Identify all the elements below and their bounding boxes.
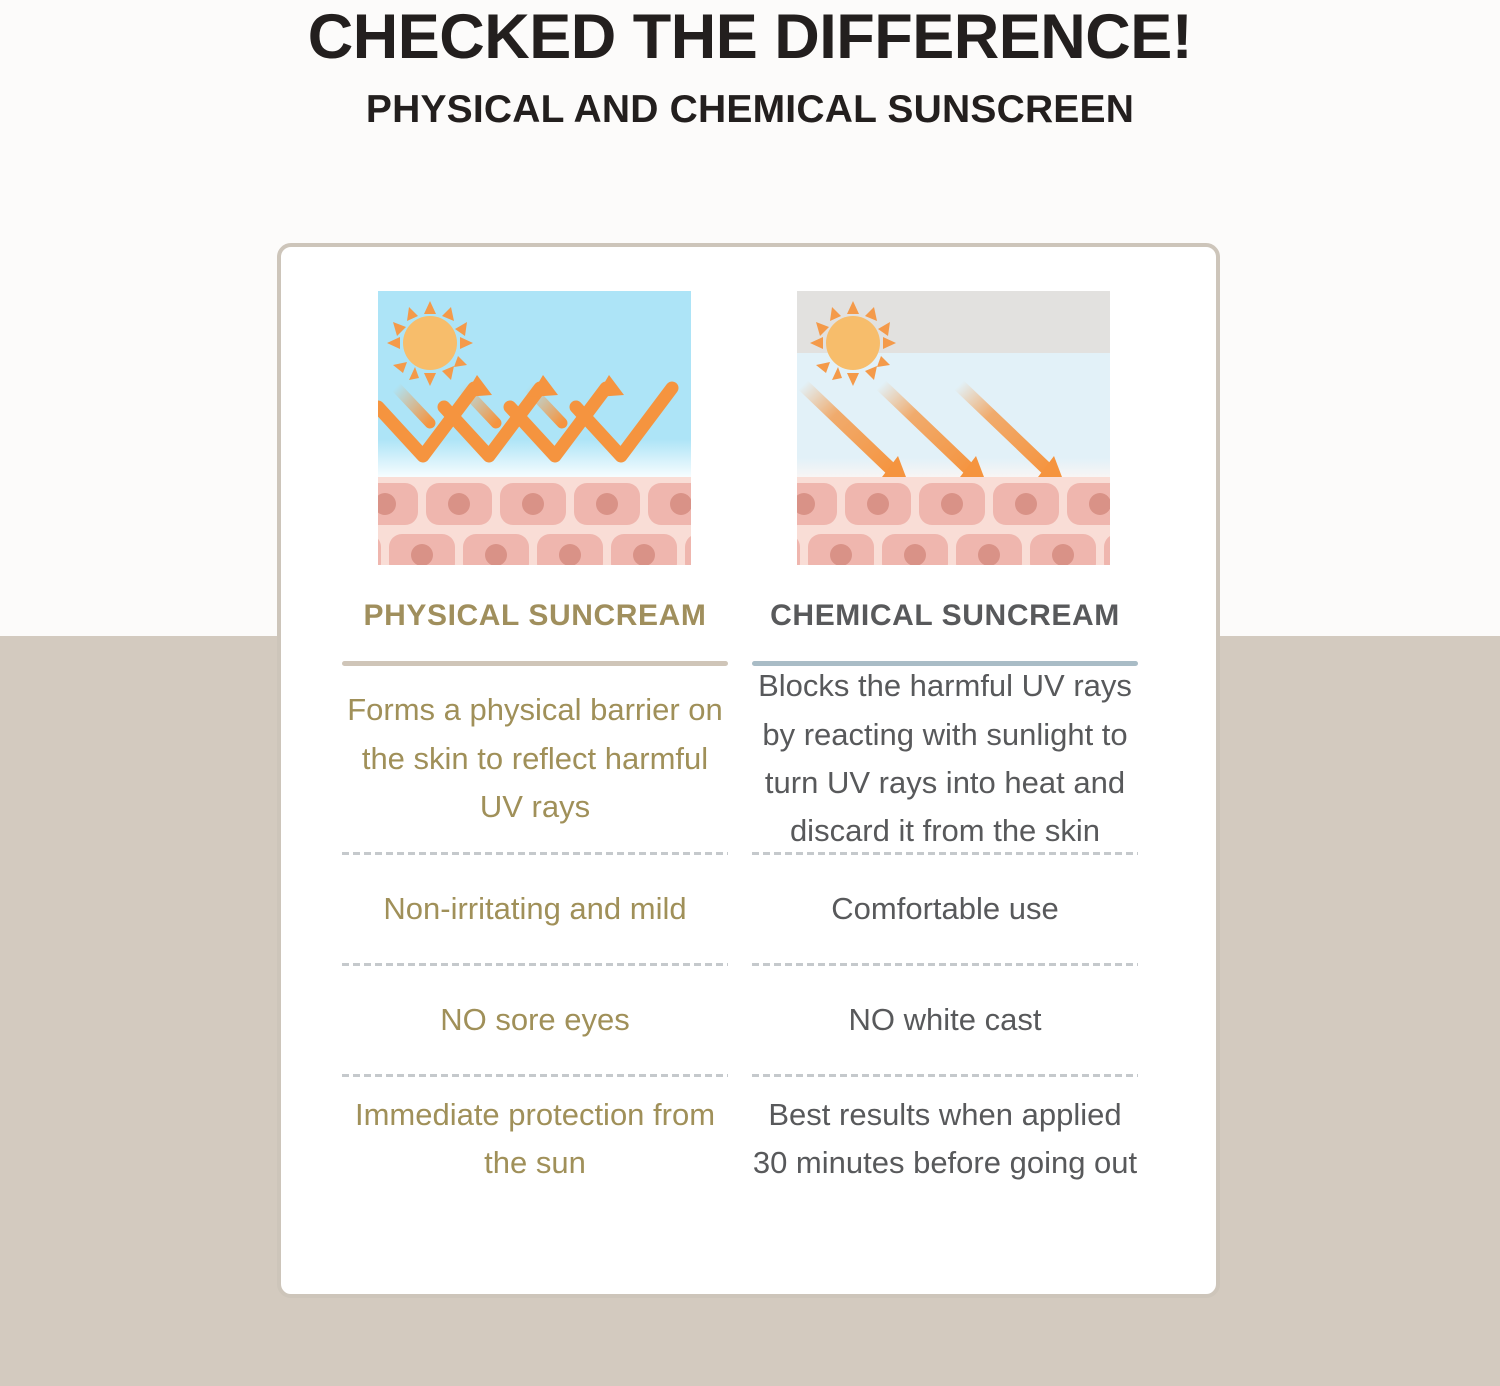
- feature-text: Comfortable use: [831, 885, 1058, 933]
- physical-sunscreen-diagram-icon: [378, 291, 691, 565]
- feature-text: Non-irritating and mild: [383, 885, 686, 933]
- feature-text: Forms a physical barrier on the skin to …: [337, 686, 733, 831]
- feature-text: Immediate protection from the sun: [337, 1091, 733, 1188]
- feature-row: Immediate protection from the sun: [337, 1077, 733, 1201]
- feature-row: Best results when applied 30 minutes bef…: [747, 1077, 1143, 1201]
- feature-row: Non-irritating and mild: [337, 855, 733, 963]
- chemical-sunscreen-illustration: [797, 291, 1110, 565]
- page-subtitle: PHYSICAL AND CHEMICAL SUNSCREEN: [0, 73, 1500, 132]
- comparison-card: PHYSICAL SUNCREAM Forms a physical barri…: [277, 243, 1220, 1298]
- illustration-row: [281, 247, 1216, 567]
- column-chemical: CHEMICAL SUNCREAM Blocks the harmful UV …: [747, 599, 1143, 1201]
- chemical-sunscreen-diagram-icon: [797, 291, 1110, 565]
- page-title: CHECKED THE DIFFERENCE!: [0, 0, 1500, 73]
- feature-row: Comfortable use: [747, 855, 1143, 963]
- feature-row: NO white cast: [747, 966, 1143, 1074]
- feature-text: Blocks the harmful UV rays by reacting w…: [747, 662, 1143, 855]
- column-physical: PHYSICAL SUNCREAM Forms a physical barri…: [337, 599, 733, 1201]
- column-title-physical: PHYSICAL SUNCREAM: [337, 599, 733, 632]
- feature-text: NO sore eyes: [440, 996, 630, 1044]
- feature-list-physical: Forms a physical barrier on the skin to …: [337, 666, 733, 1201]
- feature-text: NO white cast: [849, 996, 1042, 1044]
- physical-sunscreen-illustration: [378, 291, 691, 565]
- heading-block: CHECKED THE DIFFERENCE! PHYSICAL AND CHE…: [0, 0, 1500, 131]
- feature-row: NO sore eyes: [337, 966, 733, 1074]
- feature-row: Blocks the harmful UV rays by reacting w…: [747, 666, 1143, 852]
- feature-text: Best results when applied 30 minutes bef…: [747, 1091, 1143, 1188]
- column-title-chemical: CHEMICAL SUNCREAM: [747, 599, 1143, 632]
- feature-row: Forms a physical barrier on the skin to …: [337, 666, 733, 852]
- feature-list-chemical: Blocks the harmful UV rays by reacting w…: [747, 666, 1143, 1201]
